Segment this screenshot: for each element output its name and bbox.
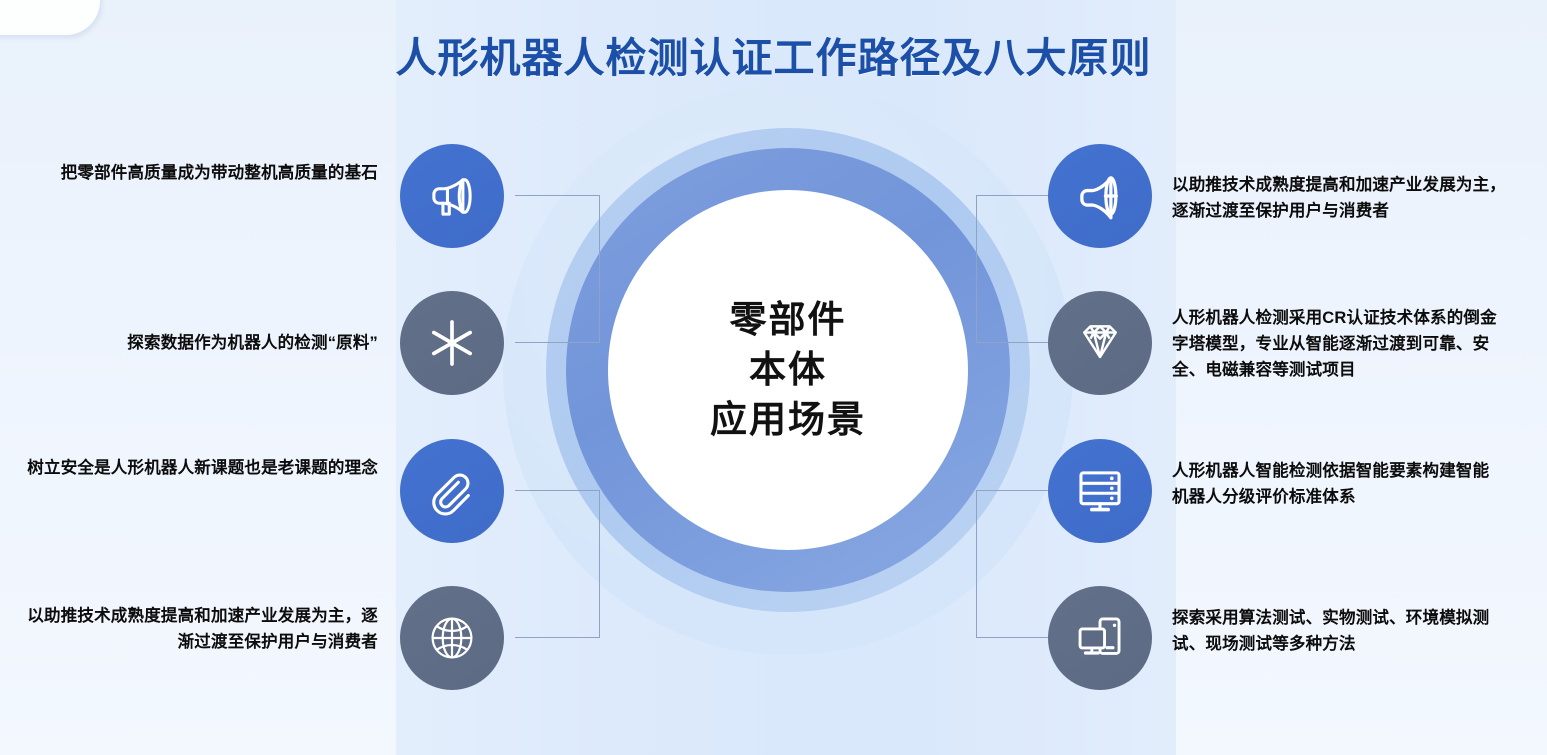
right-icon-bubble-2[interactable] — [1048, 291, 1152, 395]
center-label-group: 零部件 本体 应用场景 — [608, 190, 968, 550]
left-icon-bubble-1[interactable] — [400, 144, 504, 248]
page-title: 人形机器人检测认证工作路径及八大原则 — [0, 24, 1547, 84]
speaker-icon — [1071, 167, 1129, 225]
globe-icon — [425, 611, 479, 665]
left-label-2: 探索数据作为机器人的检测“原料” — [26, 330, 378, 356]
center-line-2: 本体 — [749, 345, 827, 395]
right-icon-bubble-1[interactable] — [1048, 144, 1152, 248]
right-icon-bubble-4[interactable] — [1048, 586, 1152, 690]
connector-left-bottom-horizontal — [515, 637, 600, 638]
megaphone-icon — [423, 167, 481, 225]
right-icon-bubble-3[interactable] — [1048, 439, 1152, 543]
asterisk-icon — [424, 315, 480, 371]
left-icon-bubble-4[interactable] — [400, 586, 504, 690]
right-label-4: 探索采用算法测试、实物测试、环境模拟测试、现场测试等多种方法 — [1172, 605, 1502, 657]
connector-right-top-vertical — [976, 195, 977, 343]
center-line-1: 零部件 — [730, 295, 847, 345]
right-label-1: 以助推技术成熟度提高和加速产业发展为主，逐渐过渡至保护用户与消费者 — [1172, 172, 1512, 224]
left-label-4: 以助推技术成熟度提高和加速产业发展为主，逐渐过渡至保护用户与消费者 — [14, 603, 378, 655]
right-label-3: 人形机器人智能检测依据智能要素构建智能机器人分级评价标准体系 — [1172, 458, 1502, 510]
left-icon-bubble-3[interactable] — [400, 439, 504, 543]
connector-left-second-horizontal — [515, 342, 600, 343]
connector-left-top-horizontal — [515, 195, 600, 196]
devices-icon — [1071, 609, 1129, 667]
paperclip-icon — [423, 462, 481, 520]
slide-canvas: 人形机器人检测认证工作路径及八大原则 零部件 本体 应用场景 — [0, 0, 1547, 755]
connector-right-bottom-vertical — [976, 490, 977, 638]
connector-left-top-vertical — [599, 195, 600, 343]
connector-left-third-horizontal — [515, 490, 600, 491]
diamond-icon — [1072, 315, 1128, 371]
left-icon-bubble-2[interactable] — [400, 291, 504, 395]
right-label-2: 人形机器人检测采用CR认证技术体系的倒金字塔模型，专业从智能逐渐过渡到可靠、安全… — [1172, 305, 1512, 383]
left-label-1: 把零部件高质量成为带动整机高质量的基石 — [26, 160, 378, 186]
server-icon — [1071, 462, 1129, 520]
connector-left-bottom-vertical — [599, 490, 600, 638]
center-line-3: 应用场景 — [710, 395, 866, 445]
left-label-3: 树立安全是人形机器人新课题也是老课题的理念 — [14, 455, 378, 481]
